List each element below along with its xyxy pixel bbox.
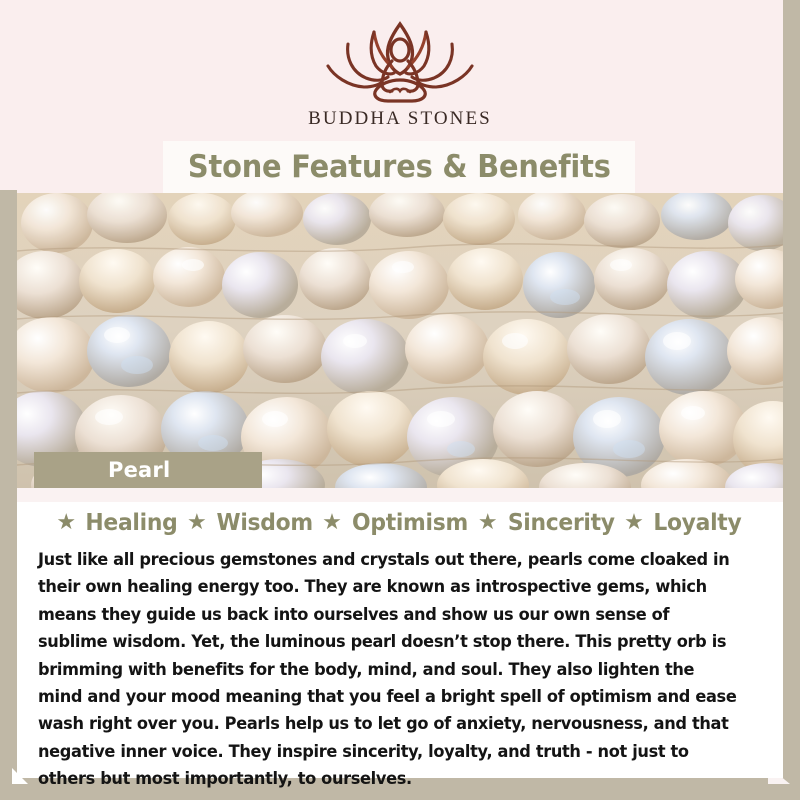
stone-name: Pearl: [34, 458, 170, 482]
infographic-card: BUDDHA STONES Stone Features & Benefits: [0, 0, 800, 800]
star-icon: ★: [322, 511, 342, 533]
keyword-wisdom: Wisdom: [216, 510, 312, 536]
description-paragraph: Just like all precious gemstones and cry…: [38, 546, 742, 793]
brand-header: BUDDHA STONES: [17, 0, 783, 141]
frame-band-left: [0, 190, 17, 800]
content-section: ★ Healing ★ Wisdom ★ Optimism ★ Sincerit…: [17, 488, 783, 778]
star-icon: ★: [624, 511, 644, 533]
star-icon: ★: [56, 511, 76, 533]
benefit-keyword-list: ★ Healing ★ Wisdom ★ Optimism ★ Sincerit…: [17, 510, 783, 536]
frame-band-right: [783, 0, 800, 790]
keyword-optimism: Optimism: [352, 510, 468, 536]
card-panel: BUDDHA STONES Stone Features & Benefits: [17, 0, 783, 778]
hero-image: [17, 193, 783, 488]
keyword-healing: Healing: [86, 510, 178, 536]
star-icon: ★: [187, 511, 207, 533]
page-title-band: Stone Features & Benefits: [163, 141, 635, 193]
keyword-loyalty: Loyalty: [653, 510, 741, 536]
brand-wordmark: BUDDHA STONES: [308, 108, 492, 130]
lotus-meditation-icon: [324, 18, 476, 104]
star-icon: ★: [478, 511, 498, 533]
pearls-photo-graphic: [17, 193, 783, 488]
content-top-strip: [17, 488, 783, 502]
page-title: Stone Features & Benefits: [188, 149, 611, 185]
stone-name-banner: Pearl: [34, 452, 262, 488]
keyword-sincerity: Sincerity: [507, 510, 614, 536]
